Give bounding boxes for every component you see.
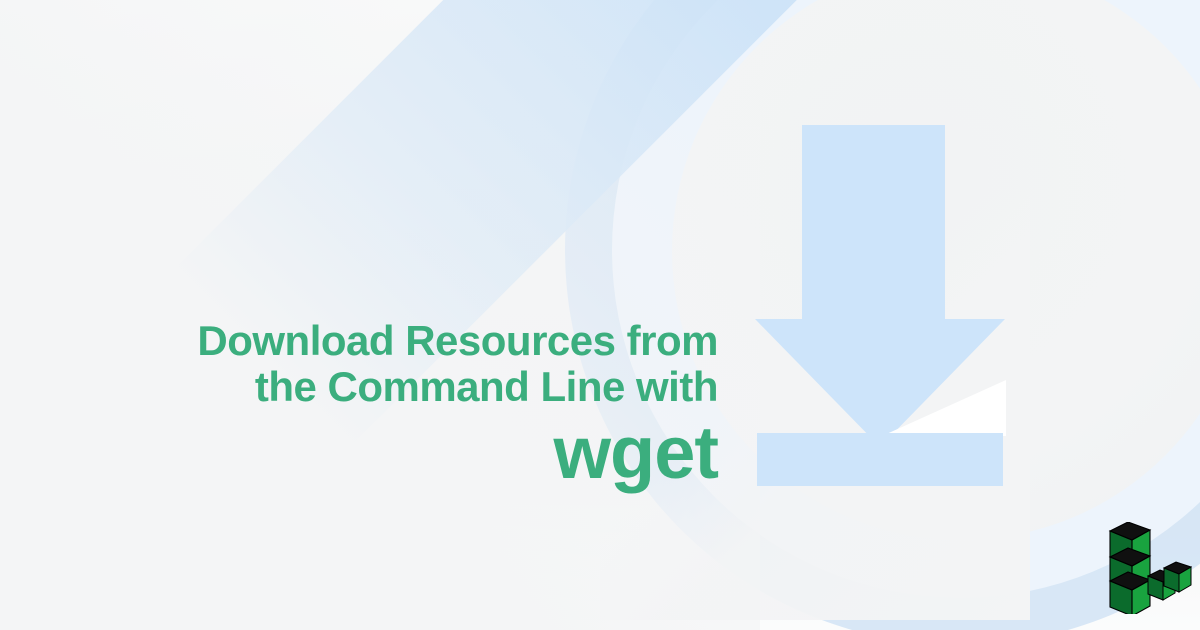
banner-canvas: Download Resources from the Command Line… [0,0,1200,630]
arrow-tray-shape [757,433,1003,486]
cube-logo-icon [1108,522,1192,614]
headline-line-2: the Command Line with [60,364,718,410]
arrow-shaft-shape [802,125,945,321]
headline-emphasis: wget [60,412,718,494]
download-arrow-icon [755,125,1005,487]
headline-block: Download Resources from the Command Line… [60,318,718,494]
background-graphics [0,0,1200,630]
headline-line-1: Download Resources from [60,318,718,364]
brand-cube-logo [1108,522,1192,614]
